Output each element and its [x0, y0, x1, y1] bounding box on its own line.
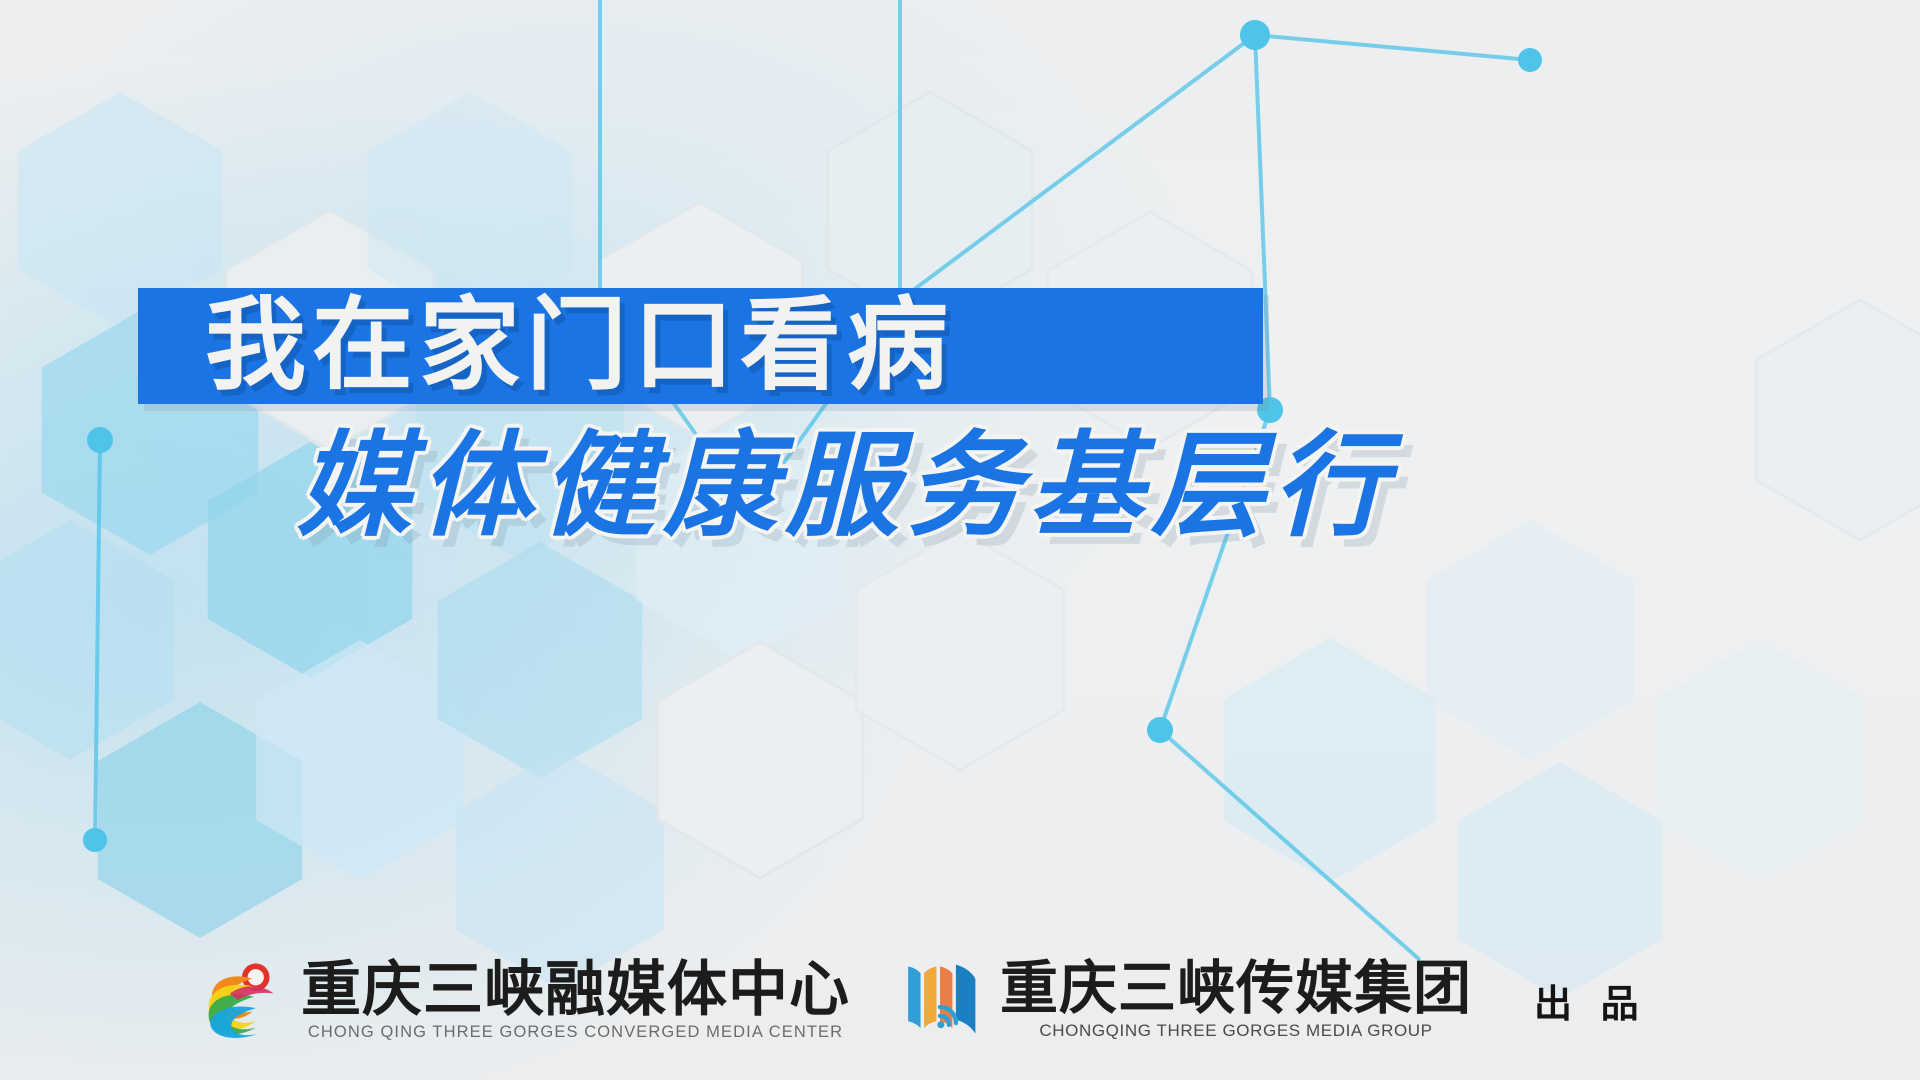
molecular-node	[1147, 717, 1173, 743]
logo-1-name-en: CHONG QING THREE GORGES CONVERGED MEDIA …	[301, 1022, 850, 1042]
title-line-2: 媒体健康服务基层行	[297, 422, 1395, 552]
logo-1-name-cn: 重庆三峡融媒体中心	[301, 959, 850, 1021]
logo-2-text-group: 重庆三峡传媒集团 CHONGQING THREE GORGES MEDIA GR…	[1000, 959, 1472, 1041]
title-block: 我在家门口看病 媒体健康服务基层行	[0, 280, 1920, 700]
molecular-node	[1240, 20, 1270, 50]
logo-2-name-cn: 重庆三峡传媒集团	[1000, 959, 1472, 1019]
produced-by-label: 出 品	[1534, 973, 1648, 1028]
title-line-1: 我在家门口看病	[205, 288, 954, 404]
molecular-edge	[1255, 35, 1530, 60]
title-card-canvas: 我在家门口看病 媒体健康服务基层行 重庆三峡融媒体中心 CHONG QING T…	[0, 0, 1920, 1080]
molecular-node	[83, 828, 107, 852]
rainbow-swoosh-icon	[205, 961, 287, 1039]
logo-converged-media-center: 重庆三峡融媒体中心 CHONG QING THREE GORGES CONVER…	[205, 959, 850, 1042]
molecular-node	[1518, 48, 1542, 72]
logo-2-name-en: CHONGQING THREE GORGES MEDIA GROUP	[1000, 1020, 1472, 1041]
footer-logo-row: 重庆三峡融媒体中心 CHONG QING THREE GORGES CONVER…	[0, 940, 1920, 1060]
open-book-wifi-icon	[894, 959, 986, 1041]
logo-1-text-group: 重庆三峡融媒体中心 CHONG QING THREE GORGES CONVER…	[301, 959, 850, 1042]
logo-media-group: 重庆三峡传媒集团 CHONGQING THREE GORGES MEDIA GR…	[894, 959, 1472, 1041]
